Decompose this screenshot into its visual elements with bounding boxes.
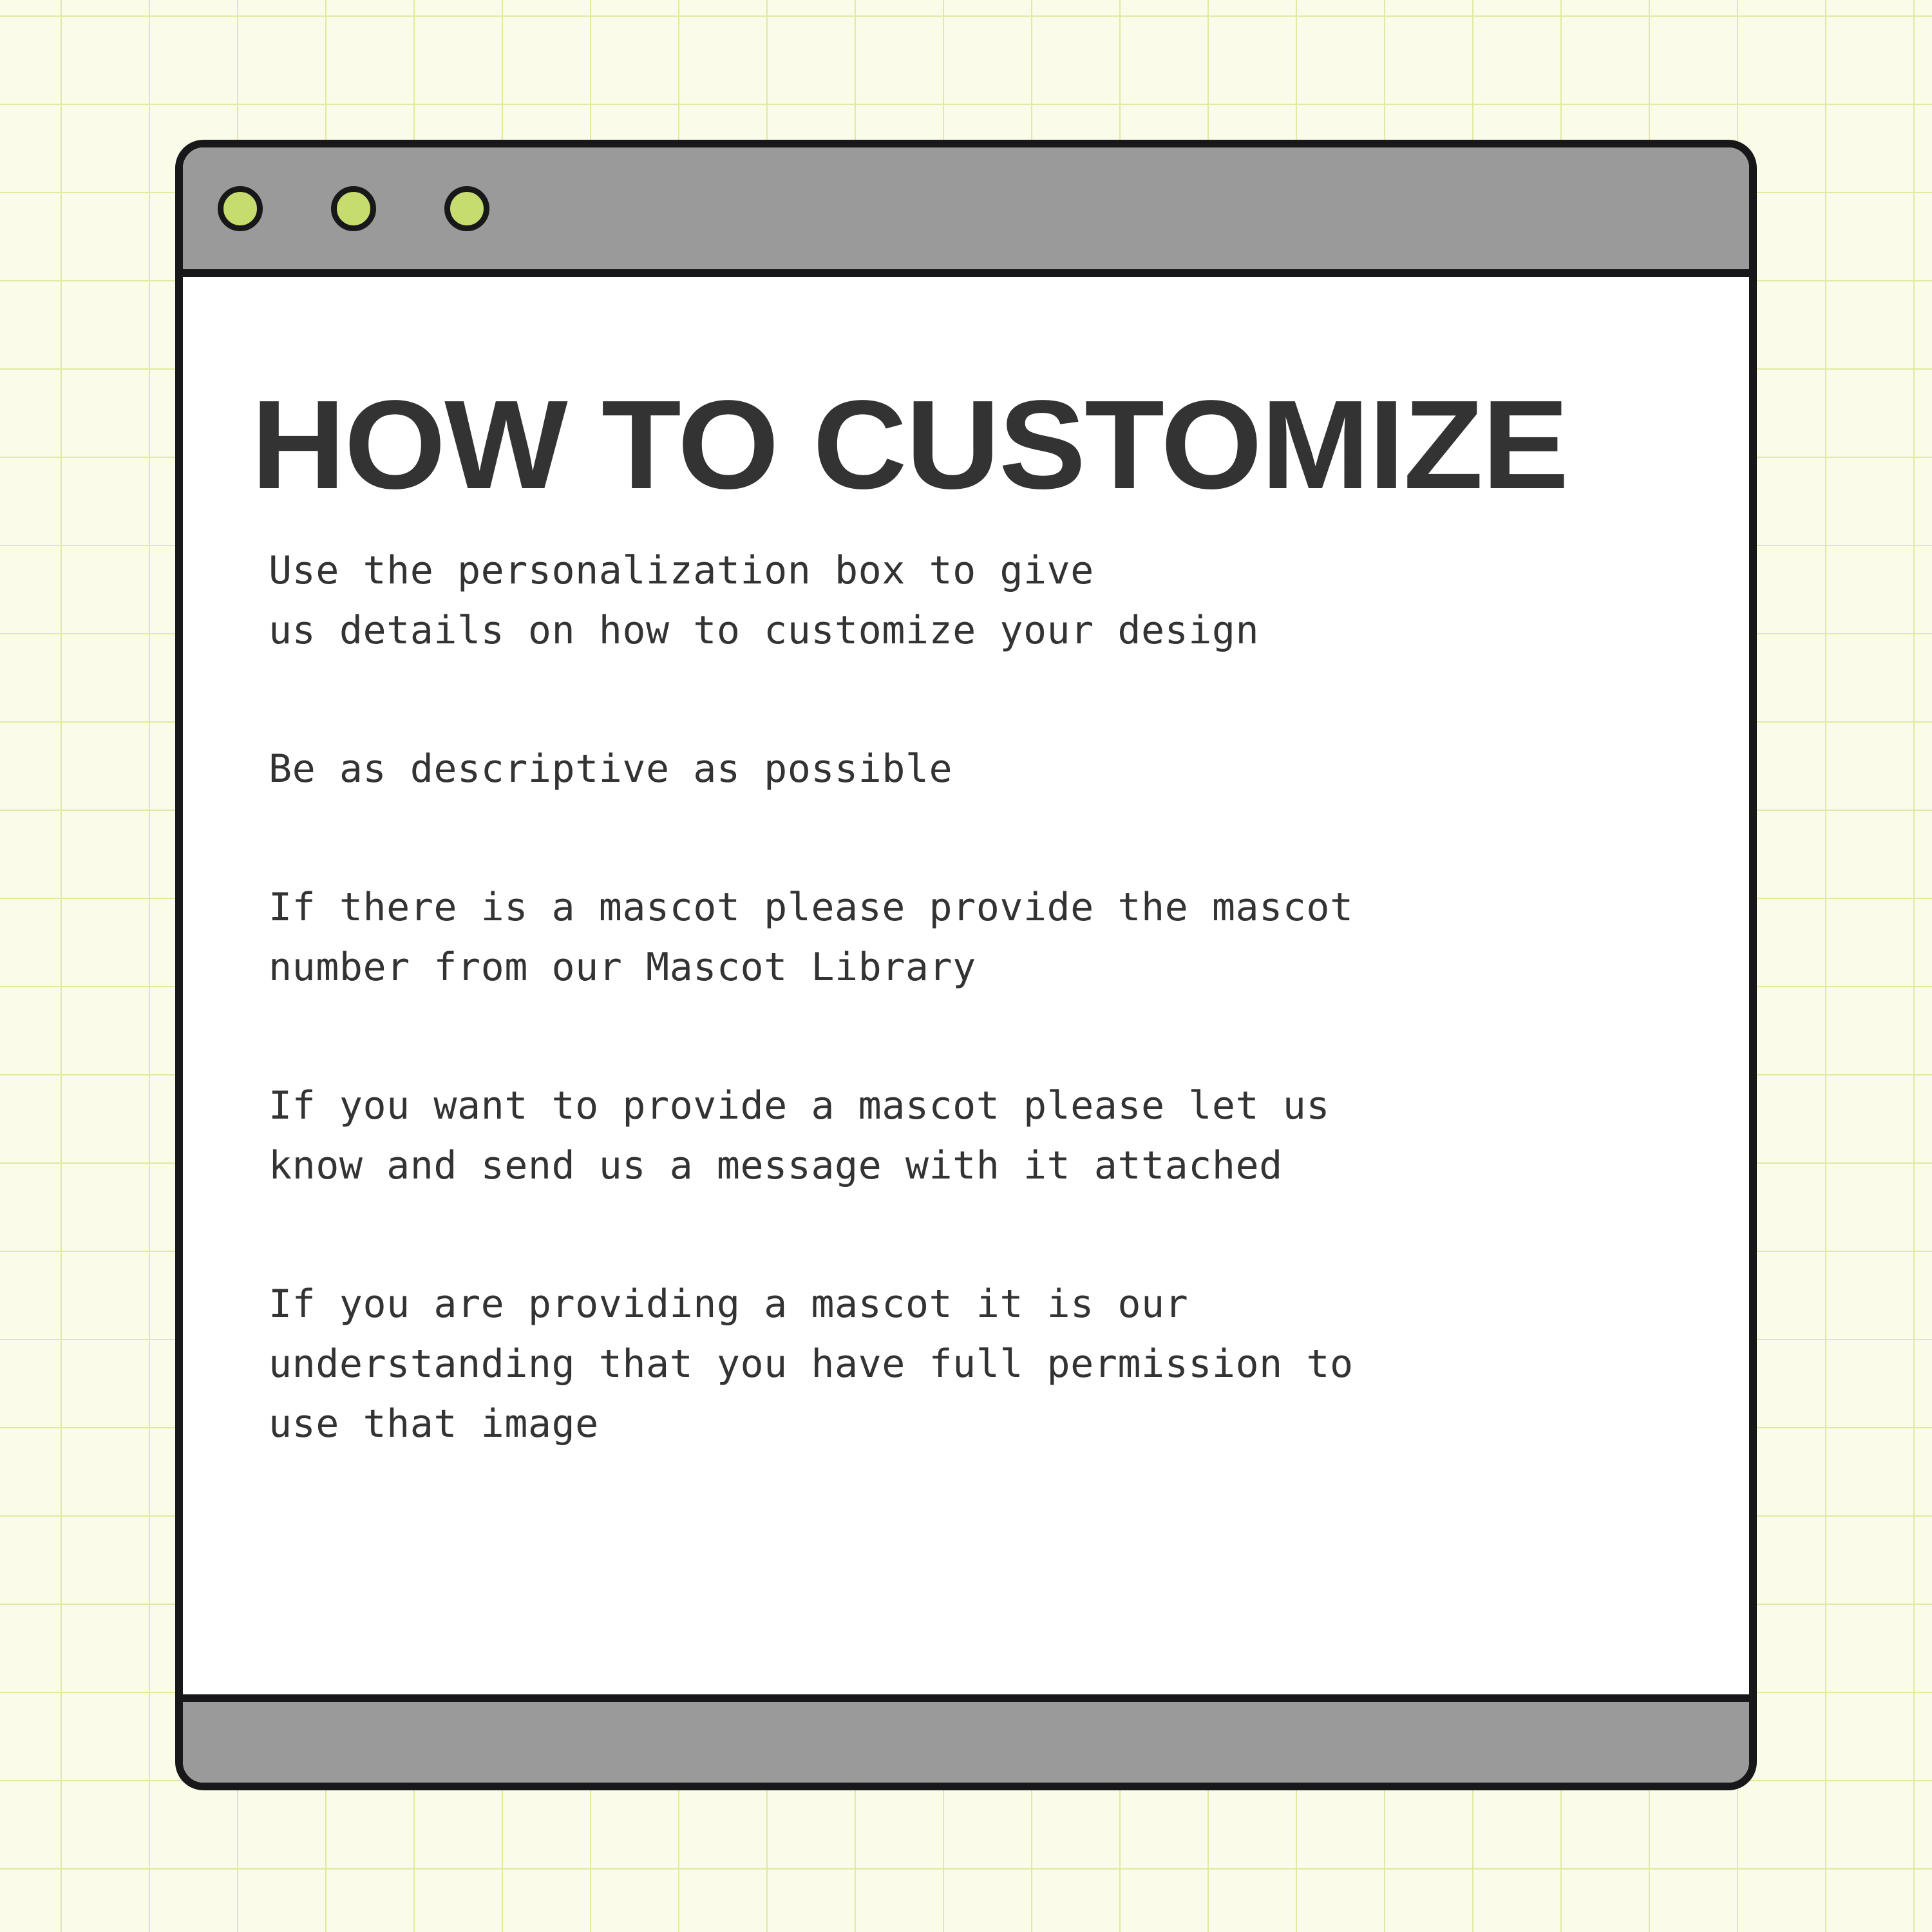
page-background: HOW TO CUSTOMIZE Use the personalization… xyxy=(0,0,1932,1932)
instruction-paragraph: Use the personalization box to give us d… xyxy=(269,541,1685,661)
instruction-paragraph: If you want to provide a mascot please l… xyxy=(269,1076,1685,1196)
instruction-paragraph: If there is a mascot please provide the … xyxy=(269,878,1685,998)
window-titlebar[interactable] xyxy=(183,147,1749,277)
window-footerbar xyxy=(183,1694,1749,1783)
instruction-paragraph: Be as descriptive as possible xyxy=(269,739,1685,799)
window-dot-close-icon[interactable] xyxy=(218,186,263,231)
window-dot-maximize-icon[interactable] xyxy=(444,186,489,231)
page-title: HOW TO CUSTOMIZE xyxy=(251,382,1567,508)
window-content: HOW TO CUSTOMIZE Use the personalization… xyxy=(183,277,1749,1694)
instruction-paragraph: If you are providing a mascot it is our … xyxy=(269,1274,1685,1454)
window-dot-minimize-icon[interactable] xyxy=(331,186,376,231)
instruction-list: Use the personalization box to give us d… xyxy=(269,541,1685,1454)
app-window: HOW TO CUSTOMIZE Use the personalization… xyxy=(175,140,1757,1790)
